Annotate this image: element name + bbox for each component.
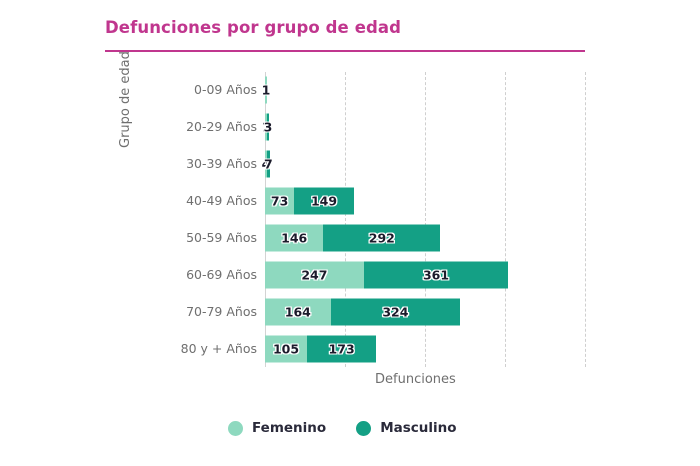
- category-label-5: 60-69 Años: [107, 267, 257, 282]
- bar-segment-femenino-7[interactable]: [265, 335, 307, 362]
- category-label-7: 80 y + Años: [107, 341, 257, 356]
- gridline-600: [505, 72, 506, 367]
- legend-label-femenino: Femenino: [252, 420, 326, 436]
- x-axis-title: Defunciones: [375, 372, 456, 387]
- legend-item-masculino[interactable]: Masculino: [356, 420, 456, 436]
- bar-segment-masculino-5[interactable]: [364, 261, 508, 288]
- bar-segment-masculino-6[interactable]: [331, 298, 461, 325]
- category-label-2: 30-39 Años: [107, 156, 257, 171]
- bar-segment-masculino-7[interactable]: [307, 335, 376, 362]
- page-title: Defunciones por grupo de edad: [105, 18, 401, 37]
- legend-swatch-masculino: [356, 421, 371, 436]
- category-label-6: 70-79 Años: [107, 304, 257, 319]
- chart-legend: Femenino Masculino: [228, 420, 457, 436]
- bar-segment-femenino-6[interactable]: [265, 298, 331, 325]
- bar-segment-masculino-1[interactable]: [267, 114, 269, 141]
- legend-label-masculino: Masculino: [380, 420, 456, 436]
- bar-segment-femenino-3[interactable]: [265, 188, 294, 215]
- bar-segment-masculino-2[interactable]: [267, 151, 270, 178]
- bar-segment-masculino-3[interactable]: [294, 188, 354, 215]
- category-label-1: 20-29 Años: [107, 119, 257, 134]
- category-label-0: 0-09 Años: [107, 82, 257, 97]
- legend-swatch-femenino: [228, 421, 243, 436]
- chart-canvas: Defunciones por grupo de edad Grupo de e…: [0, 0, 700, 466]
- gridline-800: [585, 72, 586, 367]
- bar-segment-femenino-5[interactable]: [265, 261, 364, 288]
- category-label-4: 50-59 Años: [107, 230, 257, 245]
- title-underline: [105, 50, 585, 52]
- bar-segment-femenino-4[interactable]: [265, 224, 323, 251]
- bar-segment-femenino-0[interactable]: [265, 77, 267, 104]
- bar-segment-masculino-4[interactable]: [323, 224, 440, 251]
- category-label-3: 40-49 Años: [107, 193, 257, 208]
- legend-item-femenino[interactable]: Femenino: [228, 420, 326, 436]
